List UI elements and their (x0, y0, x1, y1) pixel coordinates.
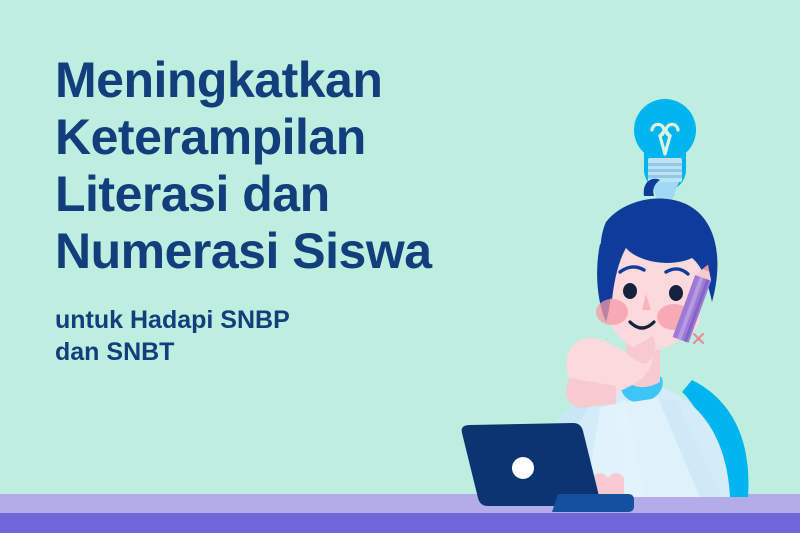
headline-line-4: Numerasi Siswa (55, 223, 525, 280)
subtitle-line-1: untuk Hadapi SNBP (55, 304, 525, 336)
headline-line-3: Literasi dan (55, 166, 525, 223)
headline-line-1: Meningkatkan (55, 52, 525, 109)
student-head (596, 179, 717, 350)
laptop-logo-dot (512, 457, 534, 479)
page-title: Meningkatkan Keterampilan Literasi dan N… (55, 52, 525, 280)
poster-text-block: Meningkatkan Keterampilan Literasi dan N… (55, 52, 525, 368)
subtitle-line-2: dan SNBT (55, 336, 525, 368)
lightbulb-icon (634, 99, 696, 202)
poster-canvas: Meningkatkan Keterampilan Literasi dan N… (0, 0, 800, 533)
page-subtitle: untuk Hadapi SNBP dan SNBT (55, 280, 525, 368)
headline-line-2: Keterampilan (55, 109, 525, 166)
